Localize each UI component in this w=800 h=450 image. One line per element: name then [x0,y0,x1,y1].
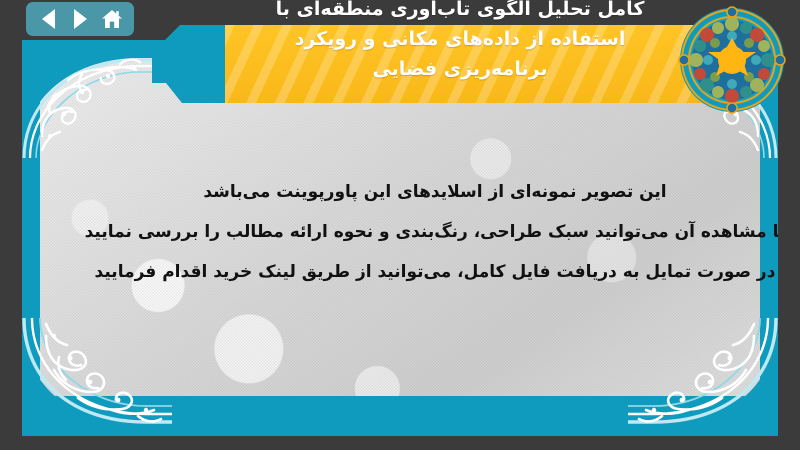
presentation-viewer: این تصویر نمونه‌ای از اسلایدهای این پاور… [0,0,800,450]
title-line: برنامه‌ریزی فضایی [225,54,695,84]
body-line: این تصویر نمونه‌ای از اسلایدهای این پاور… [82,172,778,212]
home-button[interactable] [99,6,125,32]
title-line: استفاده از داده‌های مکانی و رویکرد [225,24,695,54]
next-slide-button[interactable] [67,6,93,32]
triangle-right-icon [74,9,87,29]
title-line: کامل تحلیل الگوی تاب‌آوری منطقه‌ای با [225,0,695,24]
triangle-left-icon [42,9,55,29]
slide-title: کامل تحلیل الگوی تاب‌آوری منطقه‌ای با اس… [225,0,695,84]
persian-medallion-icon [678,6,786,114]
banner-ribbon-tail [152,25,228,103]
navigation-bar [26,2,134,36]
home-icon [101,9,123,29]
slide-body-text: این تصویر نمونه‌ای از اسلایدهای این پاور… [82,172,778,292]
body-line: با مشاهده آن می‌توانید سبک طراحی، رنگ‌بن… [82,212,778,252]
body-line: در صورت تمایل به دریافت فایل کامل، می‌تو… [82,252,778,292]
previous-slide-button[interactable] [35,6,61,32]
